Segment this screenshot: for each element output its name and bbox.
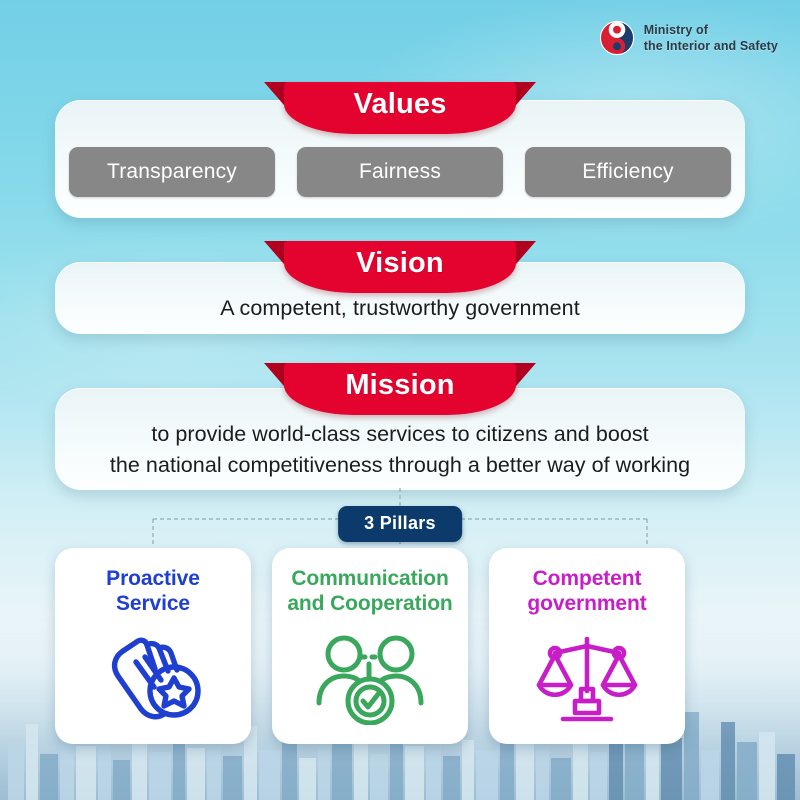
pillar-title-line2: Service xyxy=(106,591,200,616)
pillar-title-line2: and Cooperation xyxy=(287,591,452,616)
pillar-title-line2: government xyxy=(527,591,646,616)
mission-ribbon: Mission xyxy=(284,363,516,415)
pillar-title: Competent government xyxy=(527,566,646,616)
balance-scales-icon xyxy=(533,633,641,730)
ministry-logo: Ministry of the Interior and Safety xyxy=(599,20,778,56)
mission-line2: the national competitiveness through a b… xyxy=(110,450,690,481)
pillar-card-competent-government[interactable]: Competent government xyxy=(489,548,685,744)
ribbon-body: Mission xyxy=(284,363,516,415)
value-chip-label: Transparency xyxy=(107,160,237,184)
values-ribbon: Values xyxy=(284,82,516,134)
value-chip-label: Efficiency xyxy=(582,160,674,184)
value-chip-transparency[interactable]: Transparency xyxy=(69,147,275,197)
pillar-title: Proactive Service xyxy=(106,566,200,616)
pillar-title-line1: Proactive xyxy=(106,566,200,591)
ministry-logo-text: Ministry of the Interior and Safety xyxy=(644,22,778,54)
vision-ribbon: Vision xyxy=(284,241,516,293)
values-ribbon-label: Values xyxy=(353,90,446,127)
ribbon-body: Vision xyxy=(284,241,516,293)
pillars-badge: 3 Pillars xyxy=(338,506,462,542)
value-chip-fairness[interactable]: Fairness xyxy=(297,147,503,197)
value-chip-label: Fairness xyxy=(359,160,441,184)
hand-star-badge-icon xyxy=(98,629,208,730)
mission-ribbon-label: Mission xyxy=(345,371,454,408)
pillar-title-line1: Communication xyxy=(287,566,452,591)
value-chip-efficiency[interactable]: Efficiency xyxy=(525,147,731,197)
vision-ribbon-label: Vision xyxy=(356,249,444,286)
pillar-card-proactive-service[interactable]: Proactive Service xyxy=(55,548,251,744)
people-check-icon xyxy=(315,633,425,730)
pillar-title: Communication and Cooperation xyxy=(287,566,452,616)
pillar-card-row: Proactive Service Communication and Coop… xyxy=(55,548,745,744)
mission-line1: to provide world-class services to citiz… xyxy=(110,419,690,450)
pillar-card-communication-cooperation[interactable]: Communication and Cooperation xyxy=(272,548,468,744)
ribbon-body: Values xyxy=(284,82,516,134)
ministry-logo-line1: Ministry of xyxy=(644,22,778,38)
pillar-title-line1: Competent xyxy=(527,566,646,591)
pillars-badge-label: 3 Pillars xyxy=(364,513,436,533)
ministry-logo-line2: the Interior and Safety xyxy=(644,38,778,54)
taegeuk-icon xyxy=(599,20,635,56)
